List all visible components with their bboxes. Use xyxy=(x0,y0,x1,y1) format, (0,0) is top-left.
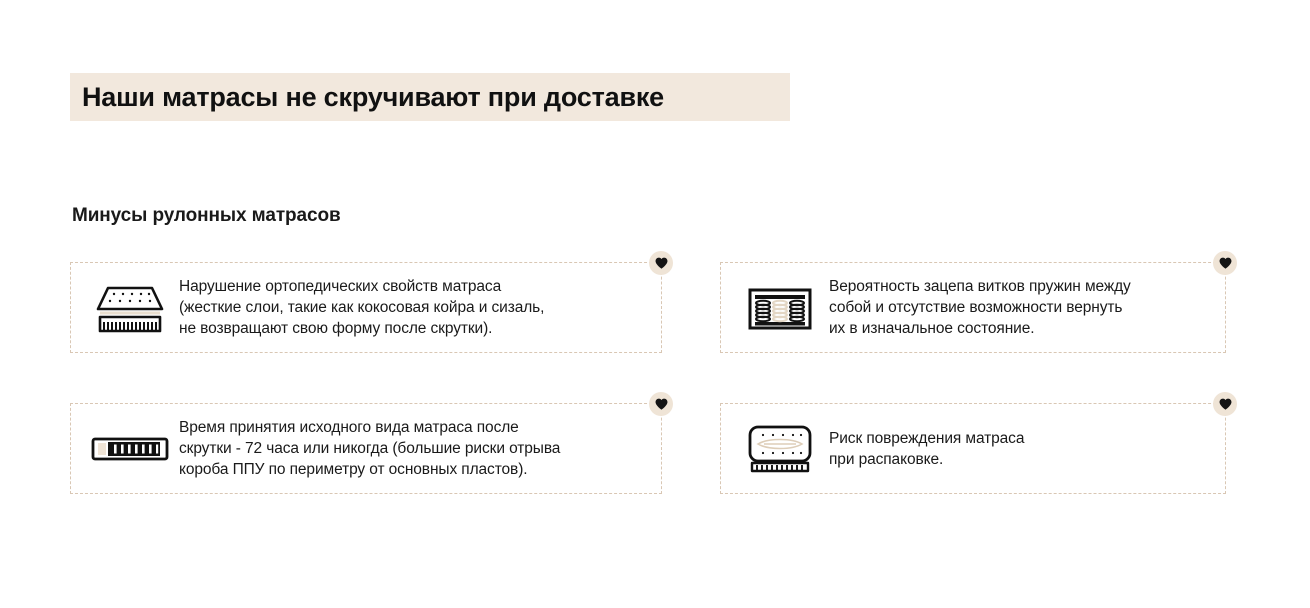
spring-coils-icon xyxy=(737,278,823,338)
section-heading: Минусы рулонных матрасов xyxy=(72,205,341,227)
card-text: Вероятность зацепа витков пружин между с… xyxy=(829,276,1131,339)
card-mattress-layers[interactable]: Нарушение ортопедических свойств матраса… xyxy=(70,262,662,353)
card-row-2: Время принятия исходного вида матраса по… xyxy=(70,403,1226,494)
rolled-mattress-icon xyxy=(87,419,173,479)
cards-grid: Нарушение ортопедических свойств матраса… xyxy=(70,262,1226,544)
card-rolled-mattress[interactable]: Время принятия исходного вида матраса по… xyxy=(70,403,662,494)
mattress-damage-icon xyxy=(737,419,823,479)
page-title: Наши матрасы не скручивают при доставке xyxy=(82,82,664,113)
card-text: Риск повреждения матраса при распаковке. xyxy=(829,428,1024,470)
heart-icon xyxy=(1213,392,1237,416)
heart-icon xyxy=(649,392,673,416)
heart-icon xyxy=(1213,251,1237,275)
card-row-1: Нарушение ортопедических свойств матраса… xyxy=(70,262,1226,353)
card-spring-coils[interactable]: Вероятность зацепа витков пружин между с… xyxy=(720,262,1226,353)
page-title-banner: Наши матрасы не скручивают при доставке xyxy=(70,73,790,121)
card-mattress-damage[interactable]: Риск повреждения матраса при распаковке. xyxy=(720,403,1226,494)
card-text: Нарушение ортопедических свойств матраса… xyxy=(179,276,544,339)
card-text: Время принятия исходного вида матраса по… xyxy=(179,417,560,480)
mattress-layers-icon xyxy=(87,278,173,338)
heart-icon xyxy=(649,251,673,275)
